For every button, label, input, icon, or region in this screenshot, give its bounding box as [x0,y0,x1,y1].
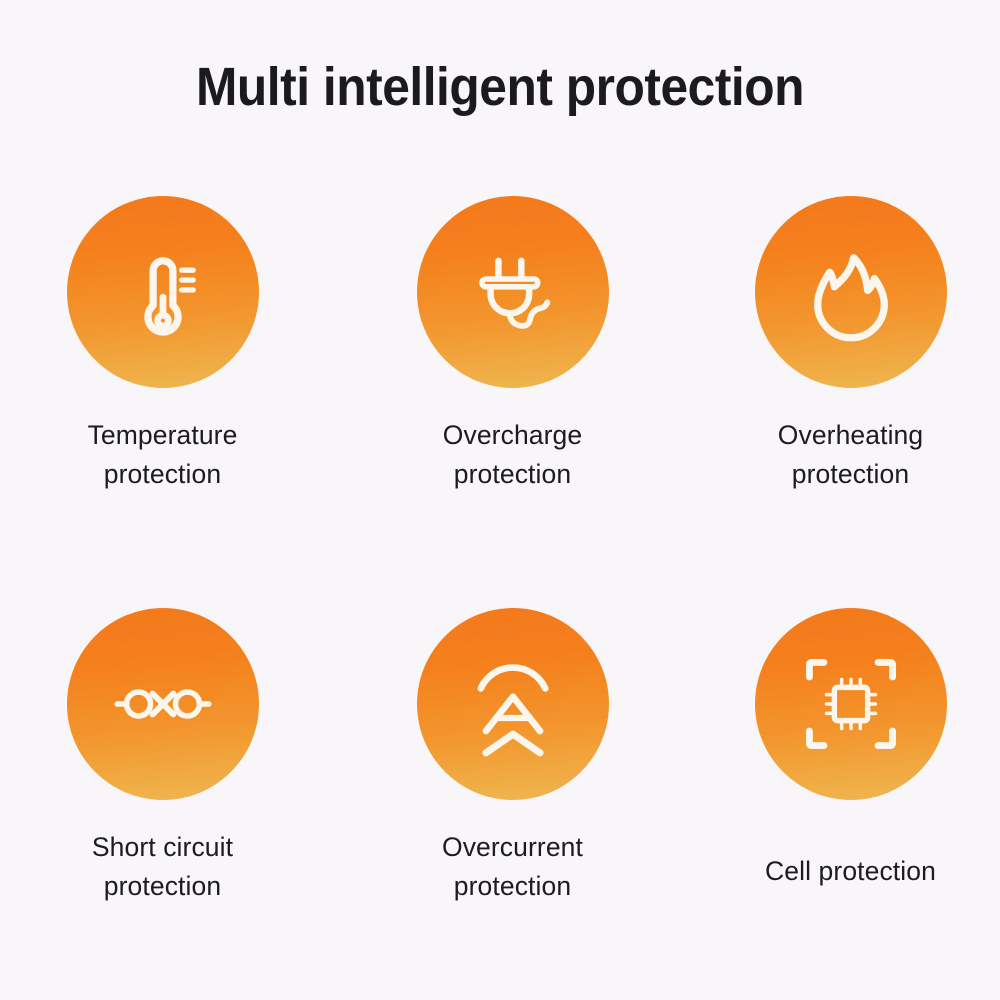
feature-label: Temperature protection [0,416,329,494]
feature-label: Overcurrent protection [346,828,679,906]
ampere-current-icon [461,652,565,756]
ampere-current-icon-badge [417,608,609,800]
flame-icon [799,240,903,344]
feature-short-circuit-protection[interactable]: Short circuit protection [0,608,329,906]
feature-temperature-protection[interactable]: Temperature protection [0,196,329,494]
short-circuit-icon-badge [67,608,259,800]
feature-label: Overheating protection [684,416,1000,494]
feature-label: Overcharge protection [346,416,679,494]
page-title: Multi intelligent protection [40,58,960,117]
flame-icon-badge [755,196,947,388]
feature-overcharge-protection[interactable]: Overcharge protection [346,196,679,494]
short-circuit-icon [111,652,215,756]
feature-overcurrent-protection[interactable]: Overcurrent protection [346,608,679,906]
feature-label: Short circuit protection [0,828,329,906]
power-plug-icon-badge [417,196,609,388]
features-grid: Temperature protection Overcharge protec… [0,196,1000,986]
feature-cell-protection[interactable]: Cell protection [684,608,1000,891]
chip-scan-icon-badge [755,608,947,800]
feature-overheating-protection[interactable]: Overheating protection [684,196,1000,494]
protection-features-page: Multi intelligent protection Temperature… [0,0,1000,1000]
thermometer-icon [111,240,215,344]
thermometer-icon-badge [67,196,259,388]
chip-scan-icon [799,652,903,756]
feature-label: Cell protection [684,852,1000,891]
power-plug-icon [461,240,565,344]
